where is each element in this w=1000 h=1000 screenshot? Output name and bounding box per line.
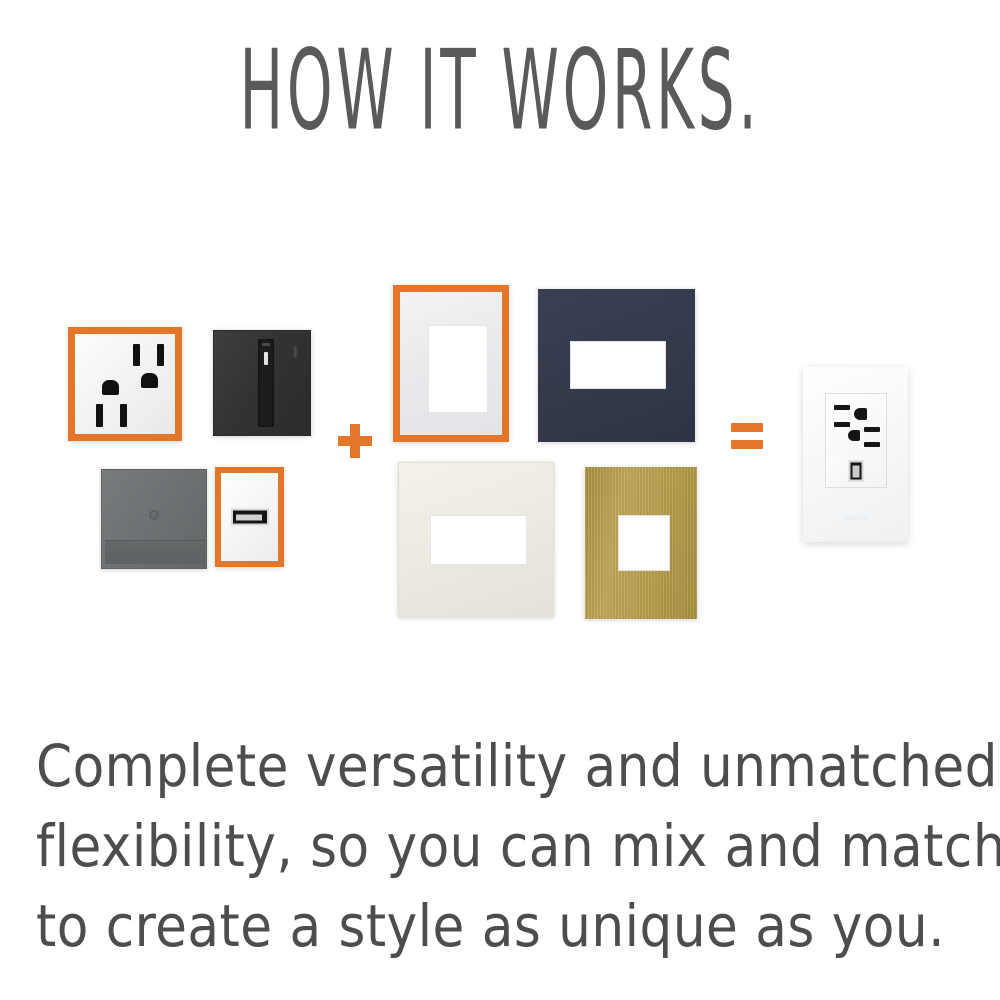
wall-plate-white-one-gang[interactable] — [393, 285, 509, 442]
usb-port-icon — [221, 473, 278, 561]
wall-plate-cream-two-gang[interactable] — [398, 462, 554, 617]
caption-line-1: Complete versatility and unmatched — [36, 726, 967, 806]
plate-opening — [430, 515, 527, 565]
outlet-icon — [75, 334, 175, 434]
brand-mark — [843, 517, 869, 520]
equals-operator-icon — [731, 423, 763, 451]
result-assembled-outlet[interactable] — [803, 367, 908, 542]
device-duplex-outlet-white[interactable] — [68, 327, 182, 441]
plate-opening — [428, 325, 488, 413]
caption-text: Complete versatility and unmatched flexi… — [36, 726, 967, 966]
wall-plate-brass-one-gang[interactable] — [585, 467, 697, 619]
dimmer-slider-icon — [213, 330, 311, 436]
result-window — [825, 393, 887, 488]
result-usb-module — [826, 455, 886, 487]
plus-operator-icon — [338, 424, 372, 458]
caption-line-2: flexibility, so you can mix and match — [36, 806, 967, 886]
result-outlet-module — [826, 394, 886, 456]
wall-plate-navy-two-gang[interactable] — [538, 289, 695, 442]
device-paddle-switch-gray[interactable] — [101, 469, 207, 569]
plate-opening — [570, 341, 666, 389]
device-dimmer-switch-dark[interactable] — [213, 330, 311, 436]
device-usb-outlet-white[interactable] — [215, 467, 284, 567]
caption-line-3: to create a style as unique as you. — [36, 886, 967, 966]
paddle-switch-icon — [101, 469, 207, 569]
plate-opening — [618, 515, 670, 571]
how-it-works-diagram — [0, 0, 1000, 700]
